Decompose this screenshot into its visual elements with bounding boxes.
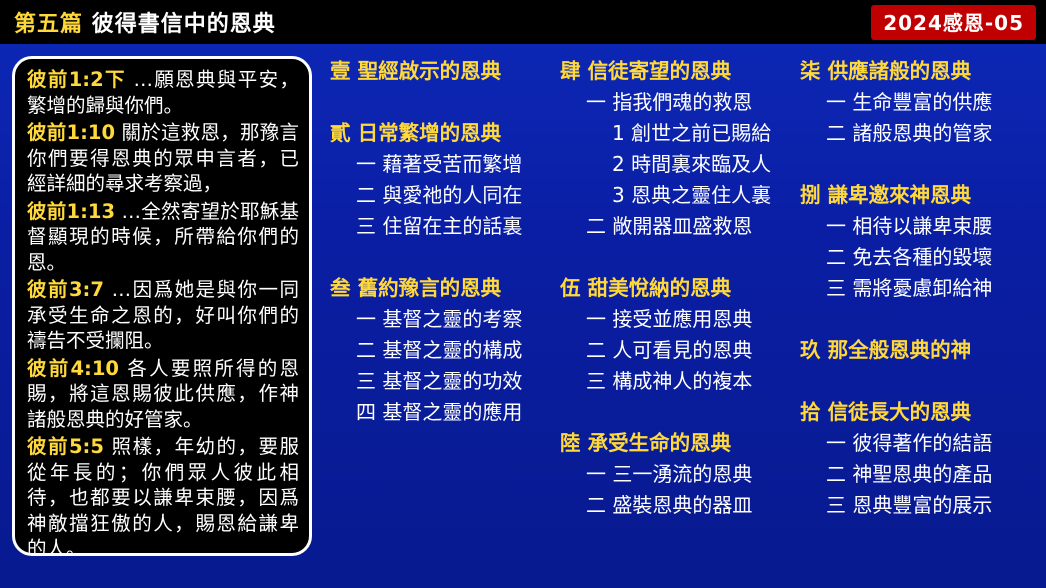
section-spacer — [330, 87, 546, 118]
outline-item-label: 三一湧流的恩典 — [606, 462, 752, 486]
outline-item: 三 恩典豐富的展示 — [800, 490, 1032, 521]
outline-section-label: 承受生命的恩典 — [581, 431, 732, 455]
outline-section-number: 肆 — [560, 59, 581, 83]
outline-section-number: 叁 — [330, 276, 351, 300]
outline-item-label: 基督之靈的功效 — [376, 369, 522, 393]
outline-item-label: 彼得著作的結語 — [846, 431, 992, 455]
outline-item-number: 二 — [586, 338, 606, 362]
outline-item-number: 一 — [356, 152, 376, 176]
outline-item-label: 人可看見的恩典 — [606, 338, 752, 362]
outline-item: 二 基督之靈的構成 — [330, 335, 546, 366]
outline-item-number: 三 — [586, 369, 606, 393]
outline-item: 二 與愛祂的人同在 — [330, 180, 546, 211]
outline-section-label: 信徒長大的恩典 — [821, 400, 972, 424]
outline-item: 三 住留在主的話裏 — [330, 211, 546, 242]
outline-item-number: 二 — [826, 121, 846, 145]
outline-section: 伍 甜美悅納的恩典一 接受並應用恩典二 人可看見的恩典三 構成神人的複本 — [560, 273, 776, 397]
verse-reference: 彼前4:10 — [27, 357, 119, 380]
outline-item-number: 二 — [826, 245, 846, 269]
outline-section-title: 伍 甜美悅納的恩典 — [560, 273, 776, 304]
verse-line: 彼前1:2下 …願恩典與平安，繁增的歸與你們。 — [27, 67, 299, 118]
page-title: 第五篇 彼得書信中的恩典 — [0, 6, 276, 38]
outline-item-label: 指我們魂的救恩 — [606, 90, 752, 114]
outline-section: 玖 那全般恩典的神 — [800, 335, 1032, 366]
outline-item: 二 諸般恩典的管家 — [800, 118, 1032, 149]
outline-item: 一 接受並應用恩典 — [560, 304, 776, 335]
page-title-main: 第五篇 — [14, 12, 83, 37]
outline-section-number: 伍 — [560, 276, 581, 300]
outline-item: 一 彼得著作的結語 — [800, 428, 1032, 459]
outline-section-title: 叁 舊約豫言的恩典 — [330, 273, 546, 304]
outline-section-number: 壹 — [330, 59, 351, 83]
outline-item-number: 一 — [826, 431, 846, 455]
outline-item: 三 構成神人的複本 — [560, 366, 776, 397]
outline-item-number: 四 — [356, 400, 376, 424]
outline-item: 一 生命豐富的供應 — [800, 87, 1032, 118]
outline-item-label: 免去各種的毀壞 — [846, 245, 992, 269]
outline-section-title: 拾 信徒長大的恩典 — [800, 397, 1032, 428]
outline-item-label: 需將憂慮卸給神 — [846, 276, 992, 300]
outline-item-label: 構成神人的複本 — [606, 369, 752, 393]
outline-item-number: 一 — [586, 462, 606, 486]
outline-item-label: 基督之靈的應用 — [376, 400, 522, 424]
outline-section: 捌 謙卑邀來神恩典一 相待以謙卑束腰二 免去各種的毀壞三 需將憂慮卸給神 — [800, 180, 1032, 304]
outline-item: 二 免去各種的毀壞 — [800, 242, 1032, 273]
outline-item-label: 恩典之靈住人裏 — [625, 183, 771, 207]
outline-item: 四 基督之靈的應用 — [330, 397, 546, 428]
verse-reference: 彼前1:13 — [27, 200, 115, 223]
section-spacer — [330, 242, 546, 273]
outline-section-title: 玖 那全般恩典的神 — [800, 335, 1032, 366]
outline-section-title: 捌 謙卑邀來神恩典 — [800, 180, 1032, 211]
outline-item: 二 敞開器皿盛救恩 — [560, 211, 776, 242]
outline-item-label: 恩典豐富的展示 — [846, 493, 992, 517]
outline-section-number: 拾 — [800, 400, 821, 424]
outline-item: 一 藉著受苦而繁增 — [330, 149, 546, 180]
outline-item-label: 生命豐富的供應 — [846, 90, 992, 114]
outline-section: 陸 承受生命的恩典一 三一湧流的恩典二 盛裝恩典的器皿 — [560, 428, 776, 521]
outline-section-label: 謙卑邀來神恩典 — [821, 183, 972, 207]
outline-section-number: 玖 — [800, 338, 821, 362]
verse-line: 彼前3:7 …因爲她是與你一同承受生命之恩的，好叫你們的禱告不受攔阻。 — [27, 277, 299, 354]
outline-item-label: 接受並應用恩典 — [606, 307, 752, 331]
outline-item-number: 二 — [356, 183, 376, 207]
slide-header: 第五篇 彼得書信中的恩典 2024感恩-05 — [0, 0, 1046, 44]
outline-item-number: 二 — [586, 493, 606, 517]
outline-section-title: 貳 日常繁增的恩典 — [330, 118, 546, 149]
outline-item: 一 三一湧流的恩典 — [560, 459, 776, 490]
outline-column-3: 柒 供應諸般的恩典一 生命豐富的供應二 諸般恩典的管家捌 謙卑邀來神恩典一 相待… — [800, 56, 1032, 552]
verse-reference: 彼前1:10 — [27, 121, 115, 144]
outline-section: 叁 舊約豫言的恩典一 基督之靈的考察二 基督之靈的構成三 基督之靈的功效四 基督… — [330, 273, 546, 428]
outline-item-label: 敞開器皿盛救恩 — [606, 214, 752, 238]
outline-item: 二 盛裝恩典的器皿 — [560, 490, 776, 521]
verse-line: 彼前4:10 各人要照所得的恩賜，將這恩賜彼此供應，作神諸般恩典的好管家。 — [27, 356, 299, 433]
outline-item-number: 一 — [826, 214, 846, 238]
outline-item-label: 基督之靈的構成 — [376, 338, 522, 362]
series-badge: 2024感恩-05 — [871, 5, 1036, 40]
outline-item-label: 住留在主的話裏 — [376, 214, 522, 238]
section-spacer — [560, 521, 776, 552]
outline-section-title: 肆 信徒寄望的恩典 — [560, 56, 776, 87]
page-title-sub: 彼得書信中的恩典 — [92, 12, 276, 37]
outline-section-label: 供應諸般的恩典 — [821, 59, 972, 83]
outline-section-title: 陸 承受生命的恩典 — [560, 428, 776, 459]
outline-item-number: 一 — [826, 90, 846, 114]
outline-item: 二 神聖恩典的產品 — [800, 459, 1032, 490]
outline-item: 1 創世之前已賜給 — [560, 118, 776, 149]
outline-section-number: 捌 — [800, 183, 821, 207]
outline-item-label: 諸般恩典的管家 — [846, 121, 992, 145]
outline-section-number: 柒 — [800, 59, 821, 83]
outline-column-2: 肆 信徒寄望的恩典一 指我們魂的救恩1 創世之前已賜給2 時間裏來臨及人3 恩典… — [560, 56, 776, 552]
outline-section-number: 陸 — [560, 431, 581, 455]
verse-reference: 彼前5:5 — [27, 435, 104, 458]
section-spacer — [330, 428, 546, 459]
verse-line: 彼前1:13 …全然寄望於耶穌基督顯現的時候，所帶給你們的恩。 — [27, 199, 299, 276]
outline-item-number: 三 — [826, 276, 846, 300]
outline-column-1: 壹 聖經啟示的恩典貳 日常繁增的恩典一 藉著受苦而繁增二 與愛祂的人同在三 住留… — [330, 56, 546, 459]
outline-item-label: 創世之前已賜給 — [625, 121, 771, 145]
outline-item: 三 需將憂慮卸給神 — [800, 273, 1032, 304]
outline-section-label: 舊約豫言的恩典 — [351, 276, 502, 300]
outline-item-label: 基督之靈的考察 — [376, 307, 522, 331]
outline-section-label: 信徒寄望的恩典 — [581, 59, 732, 83]
outline-section: 拾 信徒長大的恩典一 彼得著作的結語二 神聖恩典的產品三 恩典豐富的展示 — [800, 397, 1032, 521]
outline-item: 3 恩典之靈住人裏 — [560, 180, 776, 211]
outline-item-number: 三 — [356, 214, 376, 238]
section-spacer — [800, 521, 1032, 552]
outline-item-number: 一 — [356, 307, 376, 331]
section-spacer — [800, 366, 1032, 397]
verse-line: 彼前1:10 關於這救恩，那豫言你們要得恩典的眾申言者，已經詳細的尋求考察過， — [27, 120, 299, 197]
outline-item: 二 人可看見的恩典 — [560, 335, 776, 366]
outline-item-label: 時間裏來臨及人 — [625, 152, 771, 176]
outline-item-number: 二 — [356, 338, 376, 362]
outline-item: 三 基督之靈的功效 — [330, 366, 546, 397]
outline-item: 2 時間裏來臨及人 — [560, 149, 776, 180]
outline-section: 肆 信徒寄望的恩典一 指我們魂的救恩1 創世之前已賜給2 時間裏來臨及人3 恩典… — [560, 56, 776, 242]
outline-item-label: 相待以謙卑束腰 — [846, 214, 992, 238]
outline-item-number: 一 — [586, 90, 606, 114]
outline-item-label: 與愛祂的人同在 — [376, 183, 522, 207]
section-spacer — [560, 242, 776, 273]
outline-item-number: 二 — [586, 214, 606, 238]
outline-section-title: 壹 聖經啟示的恩典 — [330, 56, 546, 87]
outline-section-label: 日常繁增的恩典 — [351, 121, 502, 145]
outline-section-title: 柒 供應諸般的恩典 — [800, 56, 1032, 87]
outline-item: 一 相待以謙卑束腰 — [800, 211, 1032, 242]
outline-item-number: 2 — [612, 152, 625, 176]
section-spacer — [800, 149, 1032, 180]
verse-reference: 彼前1:2下 — [27, 68, 126, 91]
outline-item-number: 一 — [586, 307, 606, 331]
outline-item-number: 3 — [612, 183, 625, 207]
outline-item-number: 三 — [356, 369, 376, 393]
outline-item: 一 指我們魂的救恩 — [560, 87, 776, 118]
outline-item-number: 1 — [612, 121, 625, 145]
outline-section-label: 那全般恩典的神 — [821, 338, 972, 362]
outline-item-number: 二 — [826, 462, 846, 486]
section-spacer — [560, 397, 776, 428]
outline-item-label: 神聖恩典的產品 — [846, 462, 992, 486]
outline-section-label: 聖經啟示的恩典 — [351, 59, 502, 83]
outline-section-label: 甜美悅納的恩典 — [581, 276, 732, 300]
outline-section-number: 貳 — [330, 121, 351, 145]
outline-item-label: 盛裝恩典的器皿 — [606, 493, 752, 517]
outline-item-number: 三 — [826, 493, 846, 517]
outline-section: 柒 供應諸般的恩典一 生命豐富的供應二 諸般恩典的管家 — [800, 56, 1032, 149]
verse-reference: 彼前3:7 — [27, 278, 104, 301]
verse-line: 彼前5:5 照樣，年幼的，要服從年長的；你們眾人彼此相待，也都要以謙卑束腰，因爲… — [27, 434, 299, 556]
verse-panel: 彼前1:2下 …願恩典與平安，繁增的歸與你們。彼前1:10 關於這救恩，那豫言你… — [12, 56, 312, 556]
outline-section: 貳 日常繁增的恩典一 藉著受苦而繁增二 與愛祂的人同在三 住留在主的話裏 — [330, 118, 546, 242]
section-spacer — [800, 304, 1032, 335]
outline-item: 一 基督之靈的考察 — [330, 304, 546, 335]
outline-item-label: 藉著受苦而繁增 — [376, 152, 522, 176]
outline-section: 壹 聖經啟示的恩典 — [330, 56, 546, 87]
